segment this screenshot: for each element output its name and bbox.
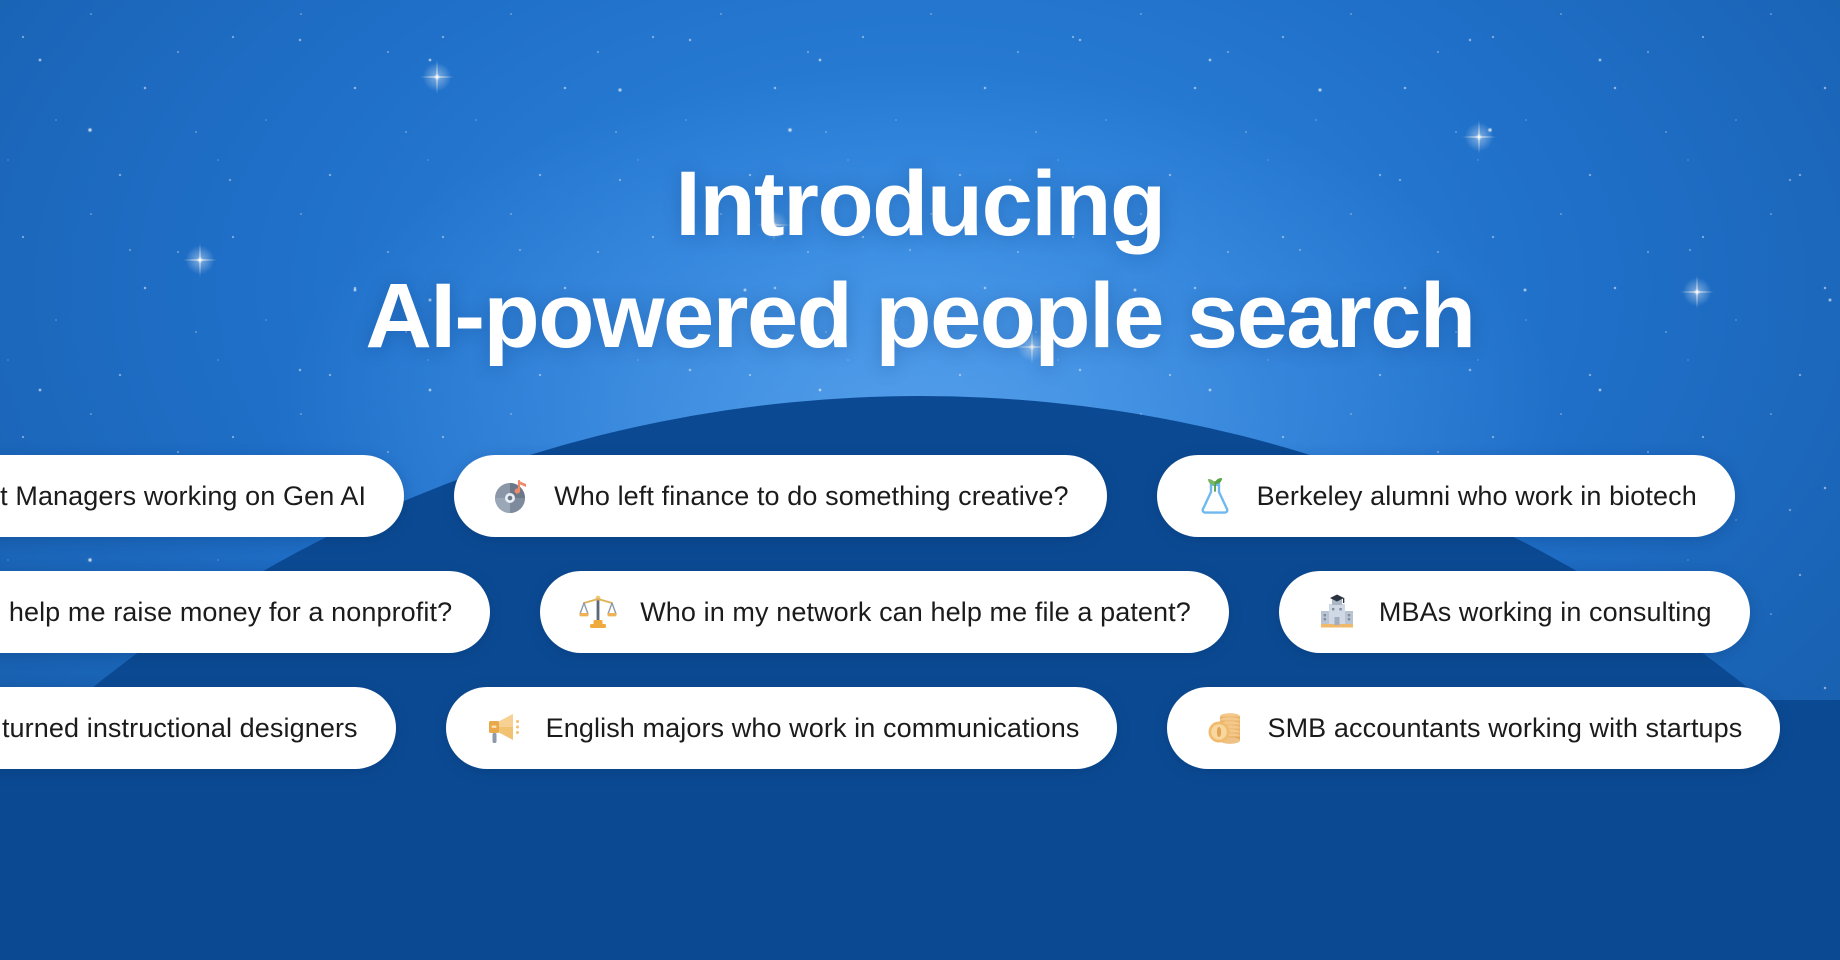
flask-sprout-icon	[1195, 476, 1235, 516]
megaphone-icon	[484, 708, 524, 748]
hero-banner: Introducing AI-powered people search Pro…	[0, 0, 1840, 960]
prompt-row: Product Managers working on Gen AI	[0, 455, 1840, 537]
prompt-pill-label: SMB accountants working with startups	[1267, 713, 1742, 744]
prompt-pill[interactable]: Who can help me raise money for a nonpro…	[0, 571, 490, 653]
prompt-pill[interactable]: English majors who work in communication…	[446, 687, 1118, 769]
prompt-pill-label: Who in my network can help me file a pat…	[640, 597, 1191, 628]
prompt-pill-label: Product Managers working on Gen AI	[0, 481, 366, 512]
page-title: Introducing AI-powered people search	[0, 148, 1840, 372]
prompt-suggestions: Product Managers working on Gen AI	[0, 455, 1840, 803]
prompt-pill-label: Who can help me raise money for a nonpro…	[0, 597, 452, 628]
star-glint-icon	[420, 60, 454, 94]
prompt-pill-label: Berkeley alumni who work in biotech	[1257, 481, 1697, 512]
headline-line-2: AI-powered people search	[0, 260, 1840, 372]
prompt-pill-label: MBAs working in consulting	[1379, 597, 1712, 628]
prompt-row: Who can help me raise money for a nonpro…	[0, 571, 1840, 653]
cd-music-icon	[492, 476, 532, 516]
prompt-pill[interactable]: Who in my network can help me file a pat…	[540, 571, 1229, 653]
balance-scales-icon	[578, 592, 618, 632]
prompt-pill[interactable]: SMB accountants working with startups	[1167, 687, 1780, 769]
prompt-pill-label: Who left finance to do something creativ…	[554, 481, 1068, 512]
prompt-pill[interactable]: Teachers turned instructional designers	[0, 687, 396, 769]
prompt-pill[interactable]: Berkeley alumni who work in biotech	[1157, 455, 1735, 537]
coins-icon	[1205, 708, 1245, 748]
university-icon	[1317, 592, 1357, 632]
prompt-pill[interactable]: Product Managers working on Gen AI	[0, 455, 404, 537]
headline-line-1: Introducing	[0, 148, 1840, 260]
prompt-row: Teachers turned instructional designers	[0, 687, 1840, 769]
prompt-pill-label: Teachers turned instructional designers	[0, 713, 358, 744]
prompt-pill[interactable]: MBAs working in consulting	[1279, 571, 1750, 653]
prompt-pill[interactable]: Who left finance to do something creativ…	[454, 455, 1106, 537]
prompt-pill-label: English majors who work in communication…	[546, 713, 1080, 744]
